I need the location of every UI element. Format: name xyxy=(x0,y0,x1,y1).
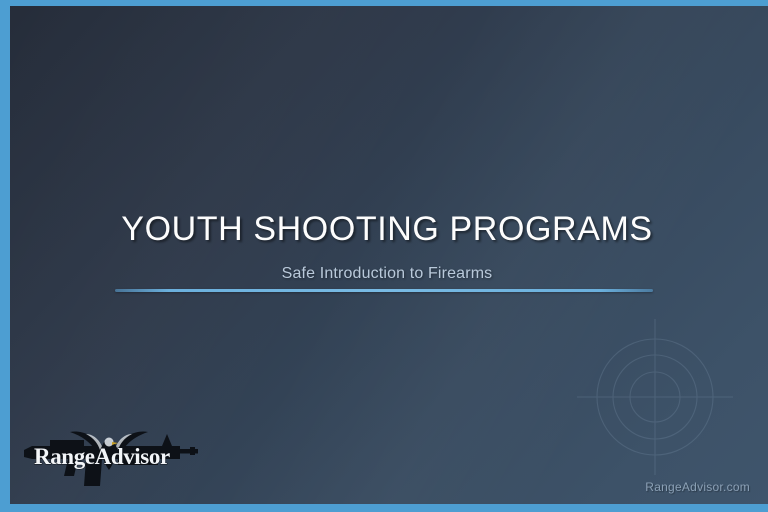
crosshair-target-icon xyxy=(577,319,733,475)
accent-border-top xyxy=(0,0,768,6)
footer-website-url: RangeAdvisor.com xyxy=(645,480,750,494)
title-block: YOUTH SHOOTING PROGRAMS Safe Introductio… xyxy=(0,208,768,284)
logo-wordmark: RangeAdvisor xyxy=(34,444,170,469)
page-title: YOUTH SHOOTING PROGRAMS xyxy=(0,208,768,250)
page-subtitle: Safe Introduction to Firearms xyxy=(0,264,768,284)
title-divider xyxy=(115,289,653,292)
rifle-eagle-logo: RangeAdvisor xyxy=(22,424,202,492)
title-slide: YOUTH SHOOTING PROGRAMS Safe Introductio… xyxy=(0,0,768,512)
accent-border-bottom xyxy=(0,504,768,512)
